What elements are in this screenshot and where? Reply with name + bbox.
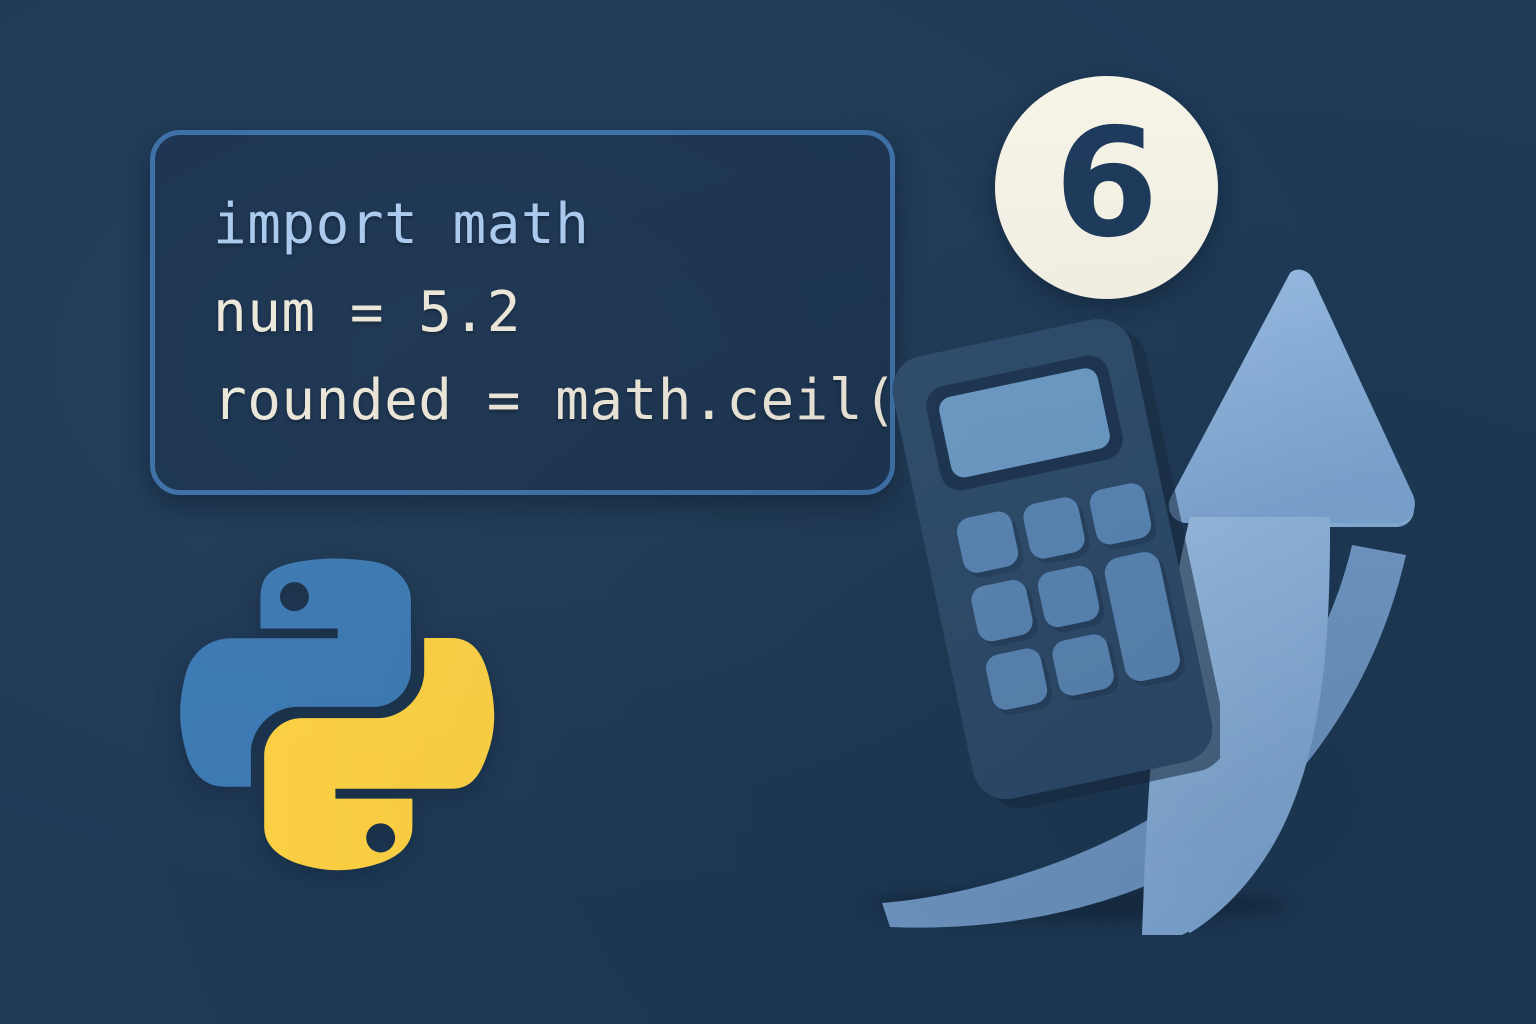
code-line-1: import math xyxy=(213,181,895,269)
python-logo xyxy=(178,557,498,877)
result-badge: 6 xyxy=(995,76,1218,299)
code-line-3: rounded = math.ceil( xyxy=(213,357,895,445)
code-line-2: num = 5.2 xyxy=(213,269,895,357)
python-code-snippet-card: import math num = 5.2 rounded = math.cei… xyxy=(150,130,895,495)
illustration-canvas: import math num = 5.2 rounded = math.cei… xyxy=(0,0,1536,1024)
calculator xyxy=(820,300,1220,840)
code-lines: import math num = 5.2 rounded = math.cei… xyxy=(213,181,895,445)
result-badge-value: 6 xyxy=(1054,109,1158,259)
